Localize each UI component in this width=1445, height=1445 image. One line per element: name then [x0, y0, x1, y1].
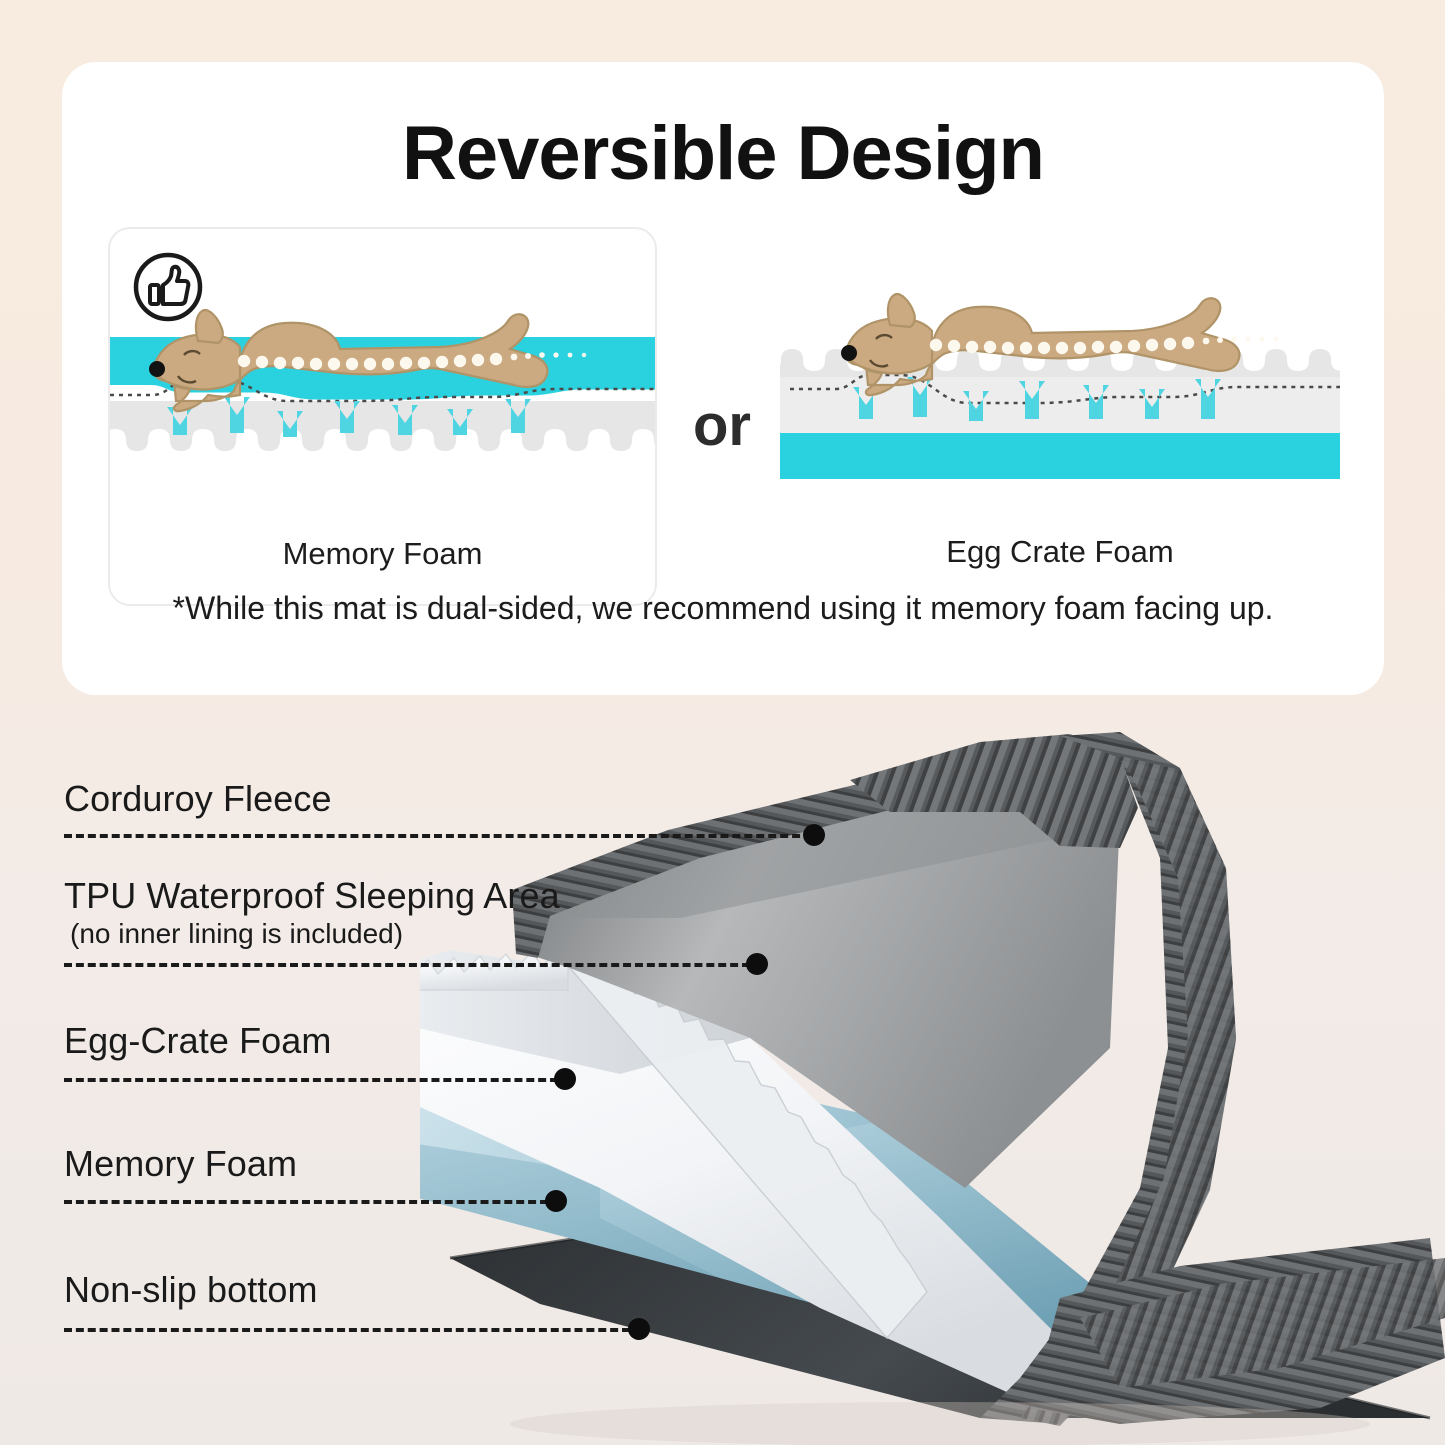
label-egg-crate-foam-text: Egg-Crate Foam	[64, 1020, 332, 1062]
thumbs-up-icon	[132, 251, 204, 323]
panel-egg-crate-up: Egg Crate Foam	[780, 227, 1340, 602]
footnote-text: *While this mat is dual-sided, we recomm…	[62, 590, 1384, 627]
panel-caption-memory-foam: Memory Foam	[110, 536, 655, 572]
dog-nose	[149, 361, 165, 377]
or-divider-label: or	[672, 392, 772, 459]
page-title: Reversible Design	[62, 110, 1384, 197]
label-corduroy-fleece-text: Corduroy Fleece	[64, 778, 332, 820]
egg-crate-foam-illustration	[780, 227, 1340, 527]
label-tpu-waterproof-text: TPU Waterproof Sleeping Area	[64, 875, 560, 917]
leader-line-memory-foam	[64, 1200, 548, 1204]
panel-caption-egg-crate-foam: Egg Crate Foam	[780, 534, 1340, 570]
reversible-design-card: Reversible Design	[62, 62, 1384, 695]
leader-line-egg-crate-foam	[64, 1078, 558, 1082]
leader-dot-tpu-waterproof	[746, 953, 768, 975]
dog-nose	[841, 345, 857, 361]
leader-line-tpu-waterproof	[64, 963, 750, 967]
leader-line-non-slip-bottom	[64, 1328, 630, 1332]
infographic-page: Reversible Design	[0, 0, 1445, 1445]
leader-dot-memory-foam	[545, 1190, 567, 1212]
label-non-slip-bottom-text: Non-slip bottom	[64, 1269, 318, 1311]
leader-dot-non-slip-bottom	[628, 1318, 650, 1340]
leader-dot-egg-crate-foam	[554, 1068, 576, 1090]
label-memory-foam-text: Memory Foam	[64, 1143, 297, 1185]
leader-dot-corduroy-fleece	[803, 824, 825, 846]
panel-memory-foam-up: Memory Foam	[108, 227, 657, 606]
memory-foam-layer	[780, 433, 1340, 479]
label-tpu-waterproof-subtext: (no inner lining is included)	[70, 918, 403, 950]
leader-line-corduroy-fleece	[64, 834, 812, 838]
